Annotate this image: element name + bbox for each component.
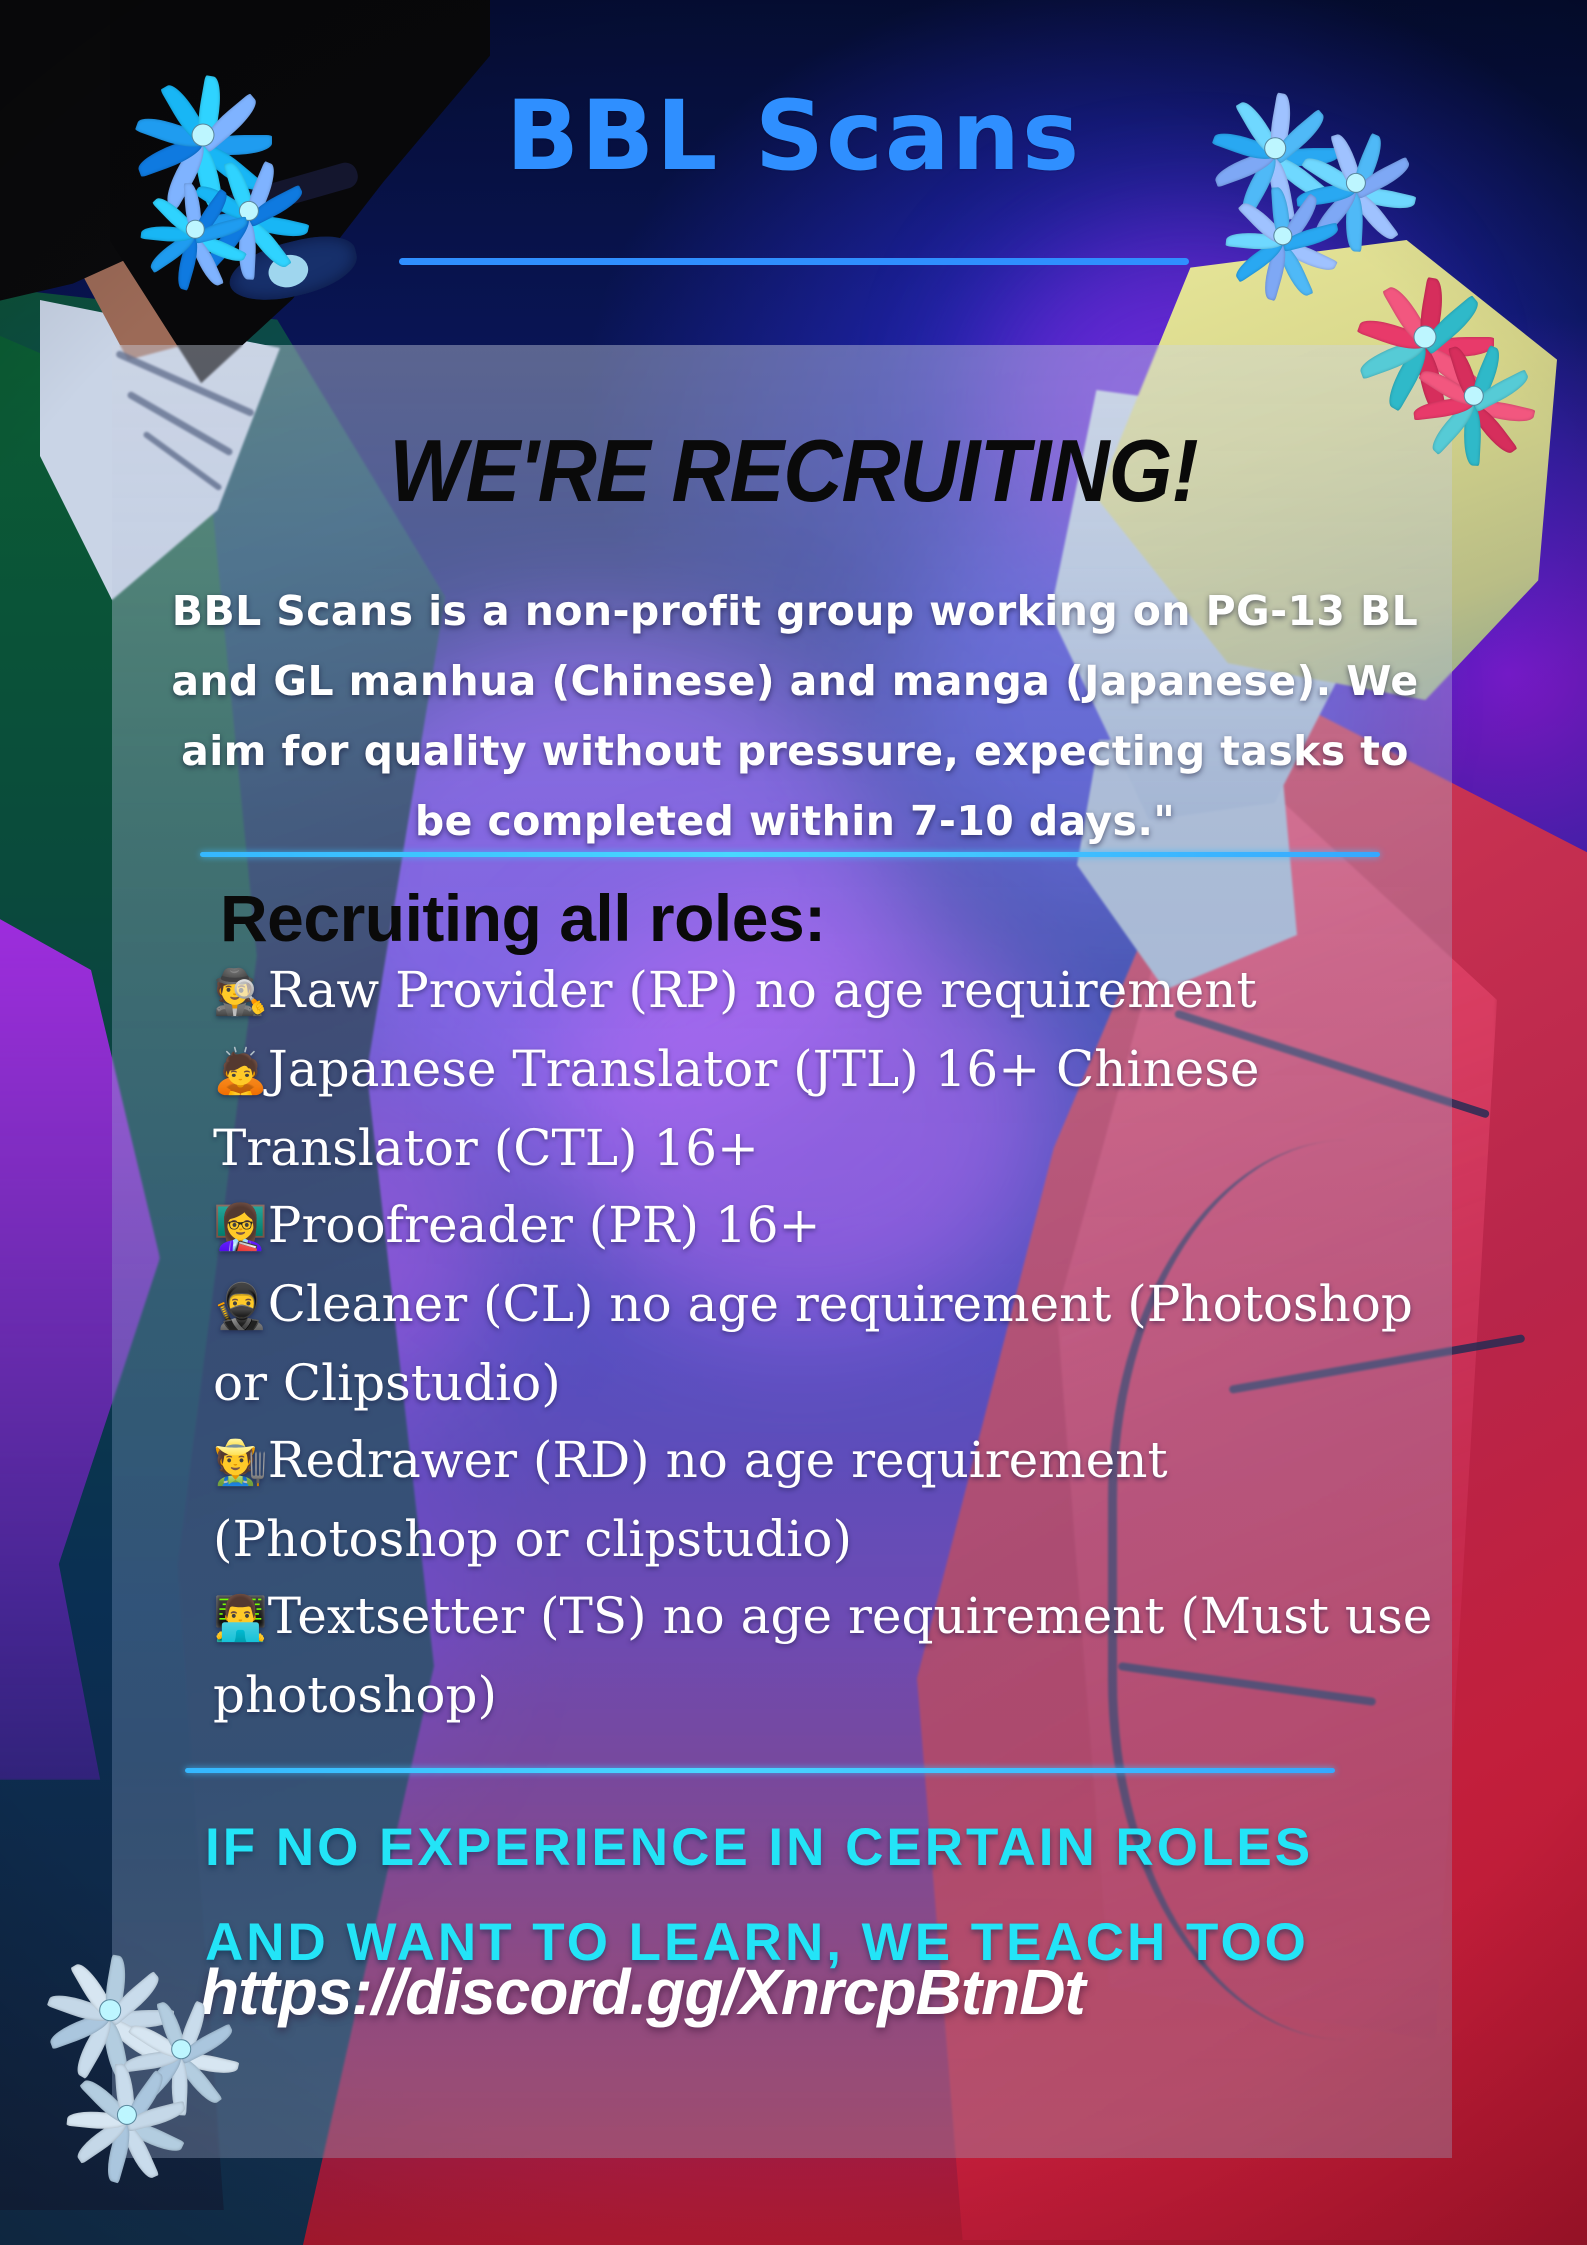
detective-emoji: 🕵️ [213, 967, 268, 1018]
cta-line-1: IF NO EXPERIENCE IN CERTAIN ROLES [205, 1800, 1405, 1895]
flower-cluster-top-left [128, 60, 358, 290]
divider-top [200, 852, 1380, 857]
ninja-emoji: 🥷 [213, 1281, 268, 1332]
role-item: 🥷Cleaner (CL) no age requirement (Photos… [213, 1266, 1438, 1422]
roles-list: 🕵️Raw Provider (RP) no age requirement🙇J… [213, 952, 1438, 1734]
cornflower-icon [136, 170, 254, 288]
roles-heading: Recruiting all roles: [220, 880, 826, 956]
role-item: 👩‍🏫Proofreader (PR) 16+ [213, 1187, 1438, 1266]
flower-center [192, 124, 215, 147]
role-label: Textsetter (TS) no age requirement (Must… [213, 1587, 1432, 1724]
role-item: 🕵️Raw Provider (RP) no age requirement [213, 952, 1438, 1031]
divider-bottom [185, 1768, 1335, 1773]
flower-cluster-right-pink [1330, 252, 1550, 482]
farmer-emoji: 🧑‍🌾 [213, 1437, 268, 1488]
discord-invite-link[interactable]: https://discord.gg/XnrcpBtnDt [200, 1955, 1410, 2029]
role-label: Proofreader (PR) 16+ [268, 1196, 821, 1254]
role-label: Cleaner (CL) no age requirement (Photosh… [213, 1275, 1413, 1412]
role-item: 🧑‍🌾Redrawer (RD) no age requirement (Pho… [213, 1422, 1438, 1578]
role-label: Raw Provider (RP) no age requirement [268, 961, 1257, 1019]
technologist-emoji: 👨‍💻 [213, 1593, 268, 1644]
flower-cluster-bottom-left [40, 1940, 290, 2190]
brand-title-underline [399, 258, 1189, 265]
role-label: Japanese Translator (JTL) 16+ Chinese Tr… [213, 1040, 1260, 1177]
intro-paragraph: BBL Scans is a non-profit group working … [150, 576, 1440, 856]
flower-center [186, 220, 205, 239]
person-bowing-emoji: 🙇 [213, 1046, 268, 1097]
hydrangea-icon [62, 2050, 192, 2180]
recruitment-poster: BBL Scans WE'RE RECRUITING! BBL Scans is… [0, 0, 1587, 2245]
flower-center [1264, 137, 1286, 159]
hibiscus-icon [1408, 330, 1540, 462]
role-item: 👨‍💻Textsetter (TS) no age requirement (M… [213, 1578, 1438, 1734]
teacher-emoji: 👩‍🏫 [213, 1202, 268, 1253]
role-label: Redrawer (RD) no age requirement (Photos… [213, 1431, 1168, 1568]
headline-recruiting: WE'RE RECRUITING! [56, 420, 1532, 522]
role-item: 🙇Japanese Translator (JTL) 16+ Chinese T… [213, 1031, 1438, 1187]
cornflower-icon [1221, 174, 1345, 298]
